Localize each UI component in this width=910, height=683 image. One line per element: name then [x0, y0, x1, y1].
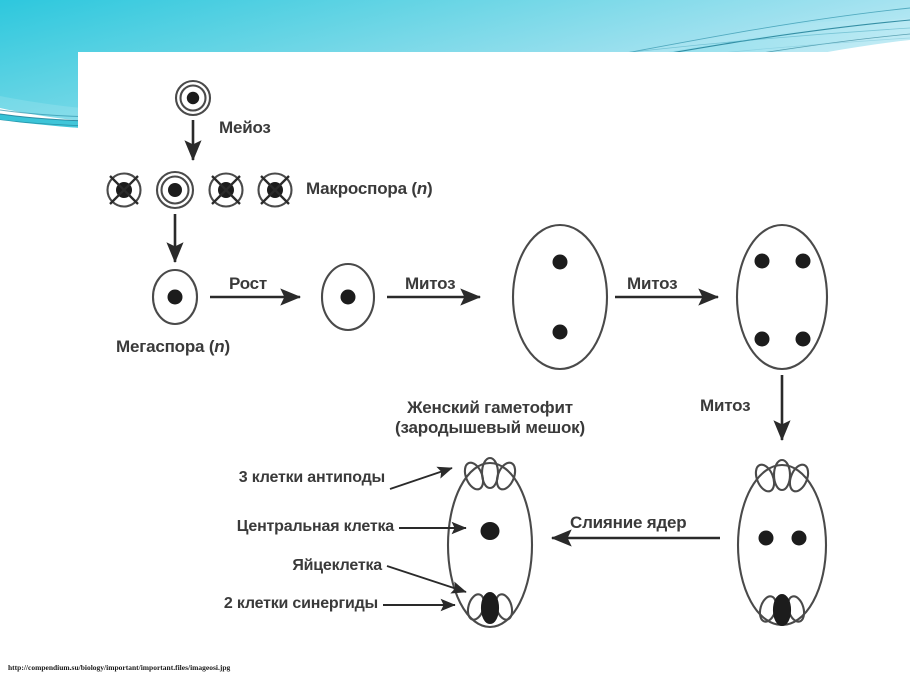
macrospore-4-degenerate — [259, 174, 292, 207]
label-macrospore: Макроспора (n) — [306, 179, 432, 199]
leader-egg-cell — [387, 566, 466, 592]
gametophyte-caption-line2: (зародышевый мешок) — [370, 418, 610, 438]
label-egg-cell: Яйцеклетка — [120, 557, 382, 575]
label-meiosis: Мейоз — [219, 118, 271, 138]
two-nucleate-sac — [513, 225, 607, 369]
label-mitosis-2: Митоз — [627, 274, 677, 294]
gametophyte-caption-line1: Женский гаметофит — [370, 398, 610, 418]
mature-embryo-sac — [448, 458, 532, 627]
label-macrospore-ploidy: n — [417, 179, 427, 198]
label-megaspore-text: Мегаспора — [116, 337, 204, 356]
label-growth: Рост — [229, 274, 267, 294]
four-nucleate-sac — [737, 225, 827, 369]
label-megaspore-ploidy: n — [214, 337, 224, 356]
slide-canvas: Мейоз Макроспора (n) Мегаспора (n) Рост … — [0, 0, 910, 683]
label-mitosis-1: Митоз — [405, 274, 455, 294]
source-url-text: http://compendium.su/biology/important/i… — [8, 663, 230, 672]
macrospore-1-degenerate — [108, 174, 141, 207]
macrospore-2-surviving — [157, 172, 193, 208]
label-antipodes: 3 клетки антиподы — [120, 469, 385, 487]
label-central-cell: Центральная клетка — [120, 518, 394, 536]
leader-antipodes — [390, 468, 452, 489]
macrospore-3-degenerate — [210, 174, 243, 207]
megasporocyte-cell — [176, 81, 210, 115]
label-nuclei-fusion: Слияние ядер — [570, 513, 687, 533]
megaspore-cell — [153, 270, 197, 324]
label-macrospore-text: Макроспора — [306, 179, 407, 198]
embryo-sac-before-fusion — [738, 460, 826, 625]
label-mitosis-3: Митоз — [700, 396, 750, 416]
gametophyte-caption: Женский гаметофит (зародышевый мешок) — [370, 398, 610, 438]
label-synergids: 2 клетки синергиды — [110, 595, 378, 613]
label-megaspore: Мегаспора (n) — [116, 337, 230, 357]
enlarged-megaspore-cell — [322, 264, 374, 330]
